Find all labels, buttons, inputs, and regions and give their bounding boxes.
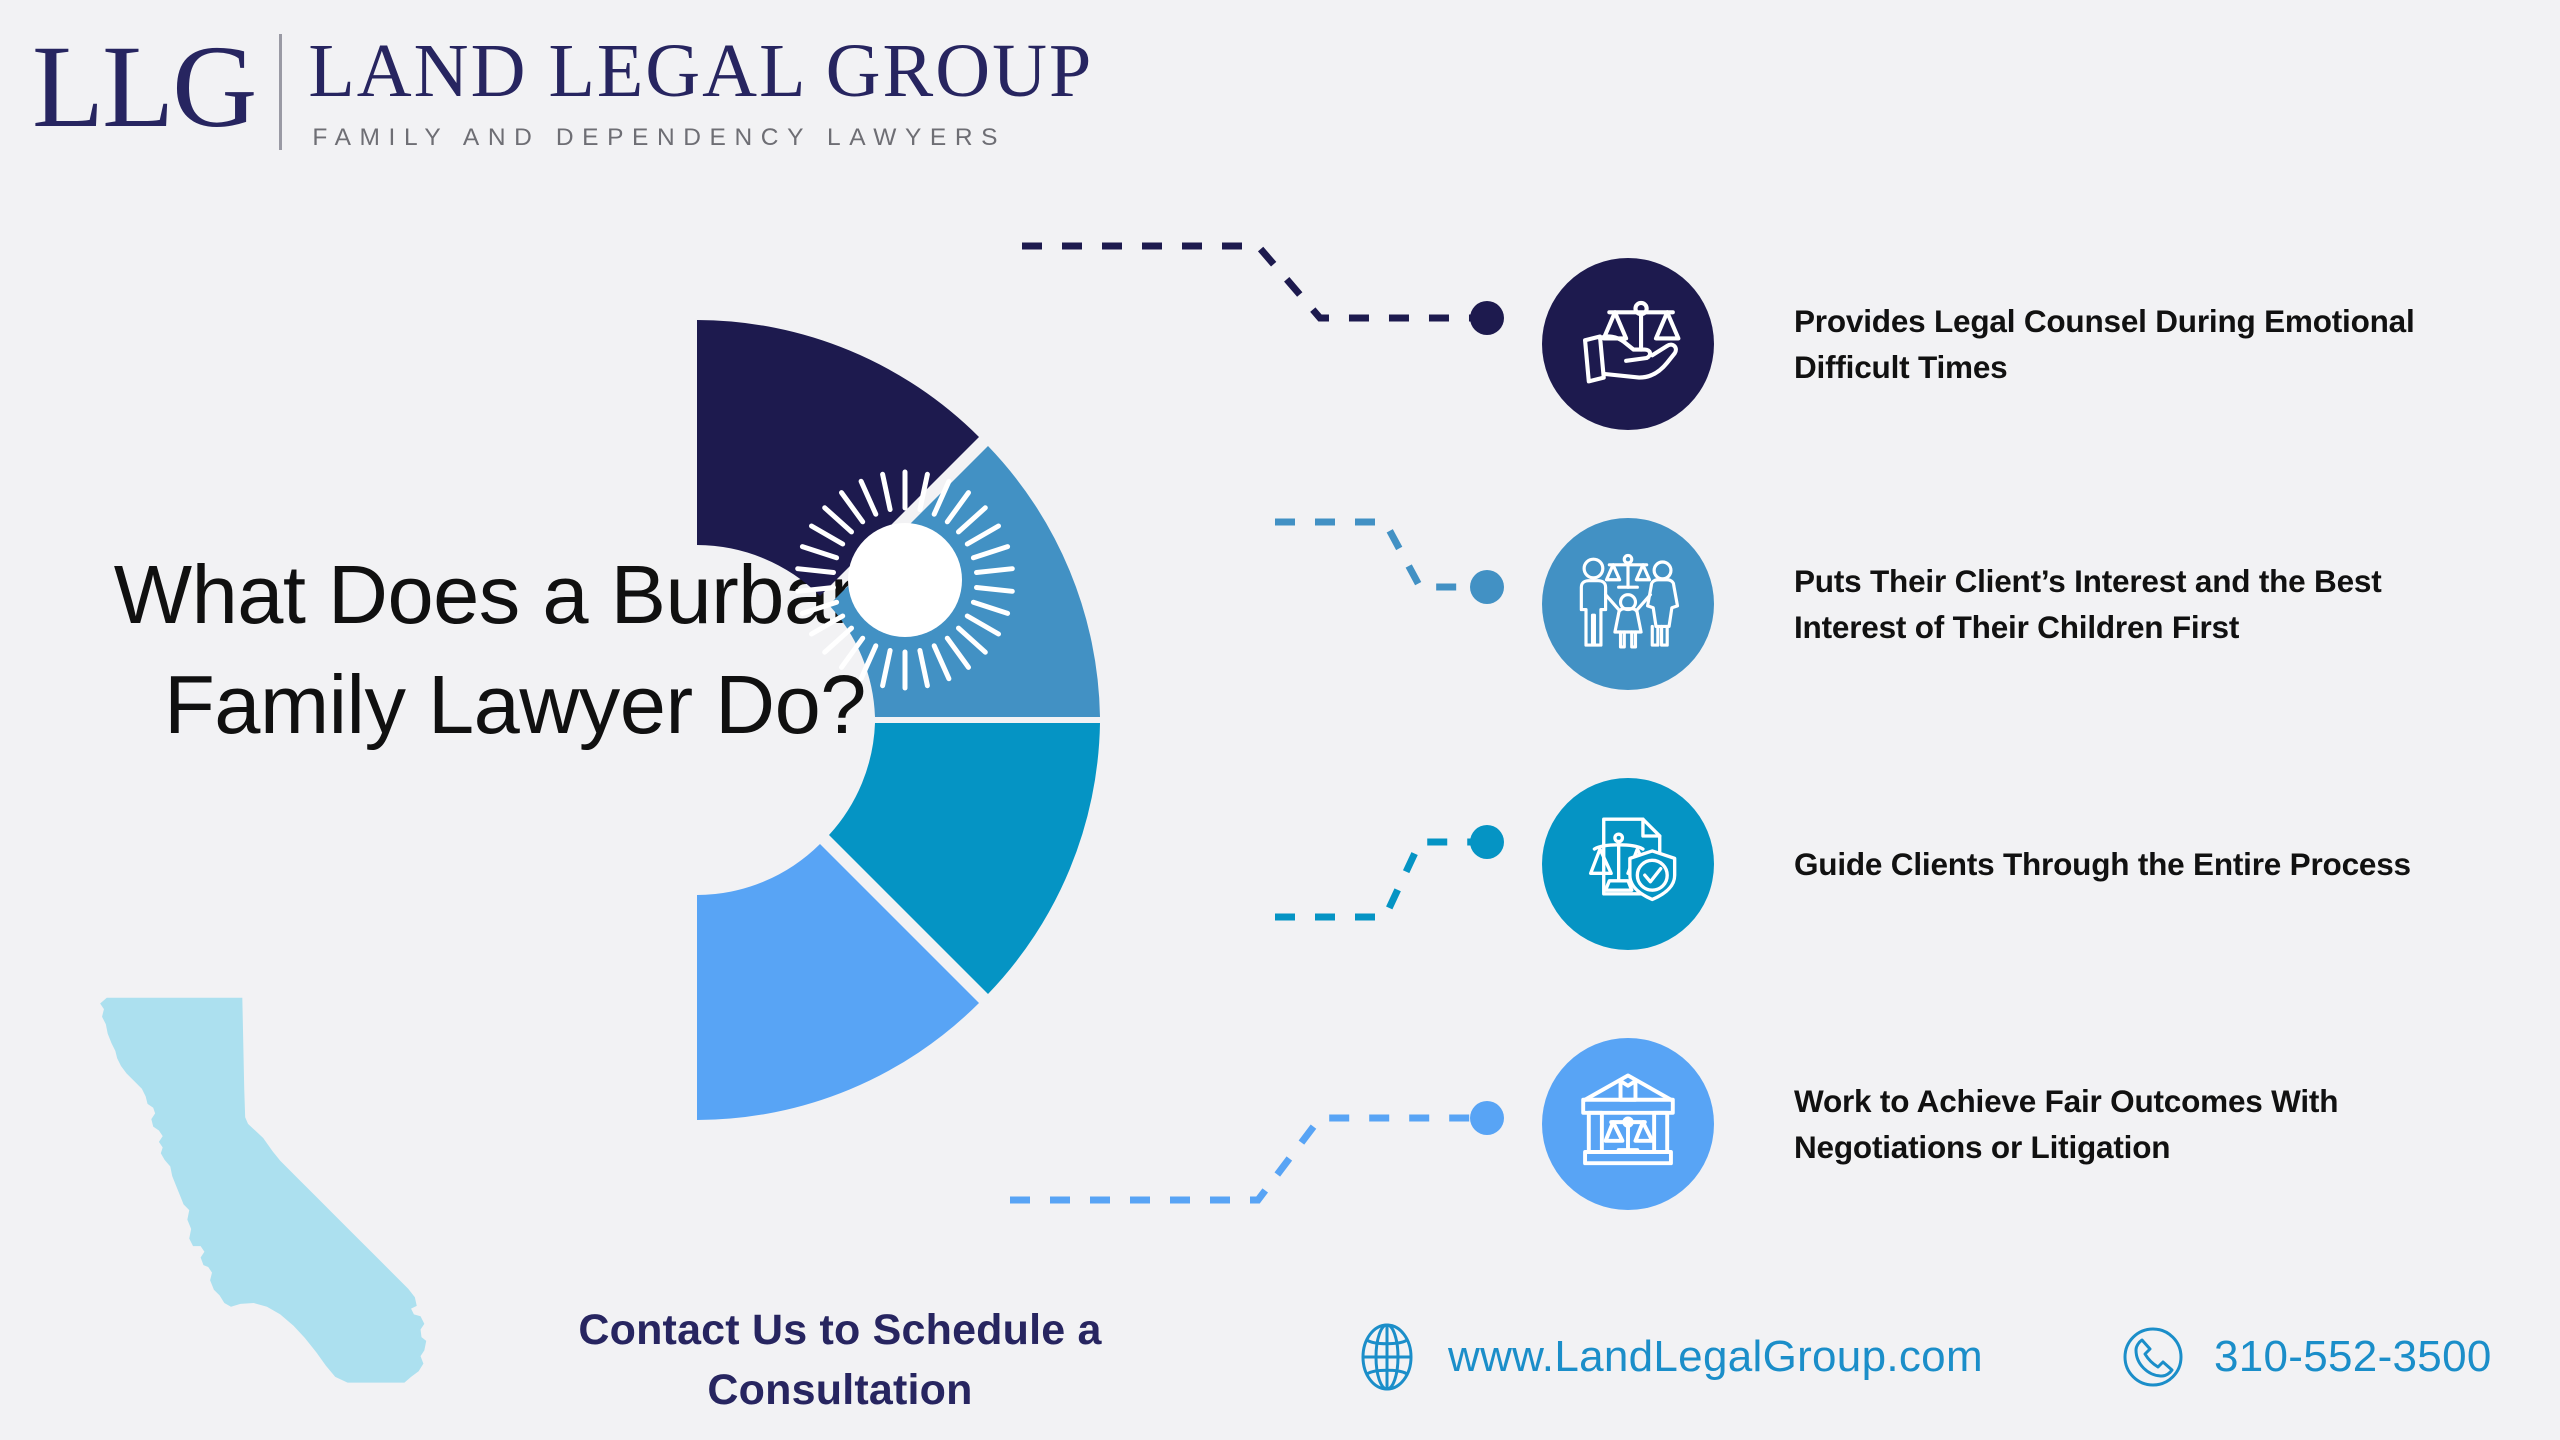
phone-circle-icon bbox=[2118, 1322, 2188, 1392]
document-scales-shield-check-icon bbox=[1542, 778, 1714, 950]
vertical-divider-icon bbox=[279, 34, 282, 150]
phone-text: 310-552-3500 bbox=[2214, 1335, 2492, 1379]
brand-logo: LLG LAND LEGAL GROUP FAMILY AND DEPENDEN… bbox=[18, 12, 1093, 172]
logo-monogram: LLG bbox=[18, 28, 273, 156]
website-link[interactable]: www.LandLegalGroup.com bbox=[1352, 1322, 1983, 1392]
california-state-outline-icon bbox=[75, 975, 440, 1430]
family-with-scales-icon bbox=[1542, 518, 1714, 690]
logo-company-name: LAND LEGAL GROUP bbox=[308, 33, 1093, 109]
courthouse-scales-icon bbox=[1542, 1038, 1714, 1210]
connector-dot-2 bbox=[1470, 570, 1504, 604]
connector-dot-1 bbox=[1470, 301, 1504, 335]
list-item[interactable]: Work to Achieve Fair Outcomes With Negot… bbox=[1542, 1038, 2494, 1210]
website-text: www.LandLegalGroup.com bbox=[1448, 1335, 1983, 1379]
list-item-label: Work to Achieve Fair Outcomes With Negot… bbox=[1794, 1078, 2494, 1171]
connector-dot-4 bbox=[1470, 1101, 1504, 1135]
cta-text: Contact Us to Schedule a Consultation bbox=[440, 1300, 1240, 1420]
list-item[interactable]: Provides Legal Counsel During Emotional … bbox=[1542, 258, 2494, 430]
phone-link[interactable]: 310-552-3500 bbox=[2118, 1322, 2492, 1392]
logo-tagline: FAMILY AND DEPENDENCY LAWYERS bbox=[312, 126, 1093, 151]
globe-icon bbox=[1352, 1322, 1422, 1392]
list-item[interactable]: Puts Their Client’s Interest and the Bes… bbox=[1542, 518, 2494, 690]
list-item-label: Guide Clients Through the Entire Process bbox=[1794, 841, 2411, 887]
half-donut-chart bbox=[700, 180, 1460, 1260]
list-item-label: Puts Their Client’s Interest and the Bes… bbox=[1794, 558, 2494, 651]
hand-holding-scales-icon bbox=[1542, 258, 1714, 430]
infographic-canvas: LLG LAND LEGAL GROUP FAMILY AND DEPENDEN… bbox=[0, 0, 2560, 1440]
list-item[interactable]: Guide Clients Through the Entire Process bbox=[1542, 778, 2411, 950]
connector-dot-3 bbox=[1470, 825, 1504, 859]
list-item-label: Provides Legal Counsel During Emotional … bbox=[1794, 298, 2494, 391]
logo-wordmark: LAND LEGAL GROUP FAMILY AND DEPENDENCY L… bbox=[308, 33, 1093, 151]
